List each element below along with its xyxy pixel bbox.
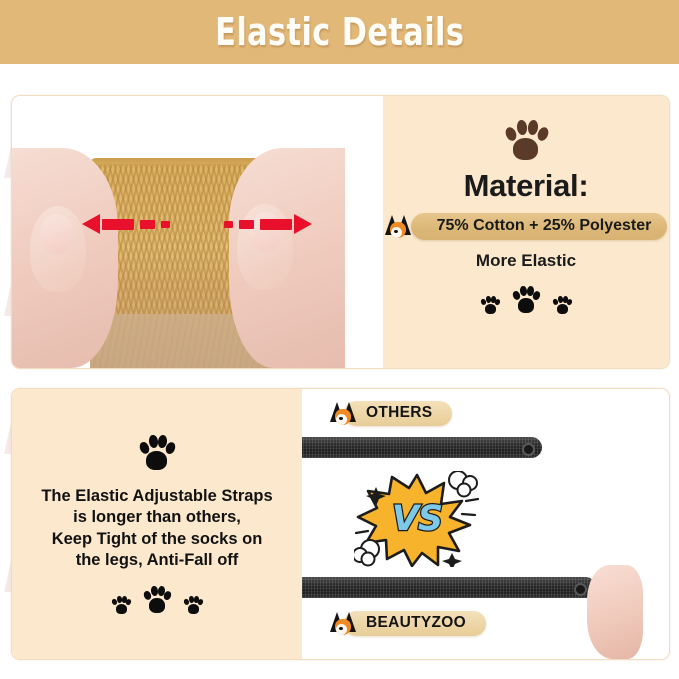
paw-print-icon [137,434,177,472]
others-label-text: OTHERS [344,401,452,426]
arrow-dash [140,220,155,229]
logo-nose [339,417,343,420]
arrow-dash [239,220,254,229]
paw-print-divider [480,285,572,314]
stretch-arrows-icon [82,213,312,235]
arrow-head-left [82,214,100,234]
left-thumbnail [40,214,74,254]
paw-print-icon-large [142,585,172,614]
arrow-dash [161,221,170,228]
elastic-material-card: Material: 75% Cotton + 25% Polyester Mor… [11,95,670,369]
arrow-dash [260,219,292,230]
beautyzoo-dog-logo-icon [330,402,356,426]
logo-face [335,409,351,425]
logo-nose [339,627,343,630]
beautyzoo-dog-logo-icon [330,612,356,636]
strap-claim-panel: The Elastic Adjustable Straps is longer … [12,389,302,659]
paw-print-icon-small [480,295,500,314]
beautyzoo-dog-logo-icon [385,215,411,239]
paw-print-icon-small [552,295,572,314]
beautyzoo-label-pill: BEAUTYZOO [330,611,486,636]
material-composition-text: 75% Cotton + 25% Polyester [411,213,668,240]
material-info-panel: Material: 75% Cotton + 25% Polyester Mor… [383,96,669,368]
others-strap-image [302,437,542,458]
page-title: Elastic Details [215,10,464,54]
strap-comparison-card: The Elastic Adjustable Straps is longer … [11,388,670,660]
arrow-dash [224,221,233,228]
more-elastic-label: More Elastic [476,251,576,271]
sock-cuff-stretch-photo [12,96,383,368]
arrow-head-right [294,214,312,234]
right-hand [229,148,345,368]
beautyzoo-strap-image [302,577,596,598]
strap-eyelet [574,583,587,596]
material-composition-pill: 75% Cotton + 25% Polyester [385,213,668,240]
paw-print-divider [111,585,203,614]
vs-comic-burst-icon: VS [354,471,480,567]
logo-face [390,222,406,238]
paw-print-icon-small [183,595,203,614]
beautyzoo-label-text: BEAUTYZOO [344,611,486,636]
sock-photo-scene [12,96,383,368]
logo-face [335,619,351,635]
strap-claim-text: The Elastic Adjustable Straps is longer … [41,486,272,572]
paw-print-icon-large [511,285,541,314]
others-label-pill: OTHERS [330,401,452,426]
page-header-bar: Elastic Details [0,0,679,64]
paw-print-icon [502,118,550,162]
arrow-dash [102,219,134,230]
hand-holding-strap [587,565,643,659]
strap-comparison-panel: OTHERS [302,389,669,659]
paw-print-icon-small [111,595,131,614]
material-heading: Material: [464,168,589,204]
strap-eyelet [522,443,535,456]
left-hand [12,148,118,368]
logo-nose [394,230,398,233]
vs-label: VS [354,499,480,539]
